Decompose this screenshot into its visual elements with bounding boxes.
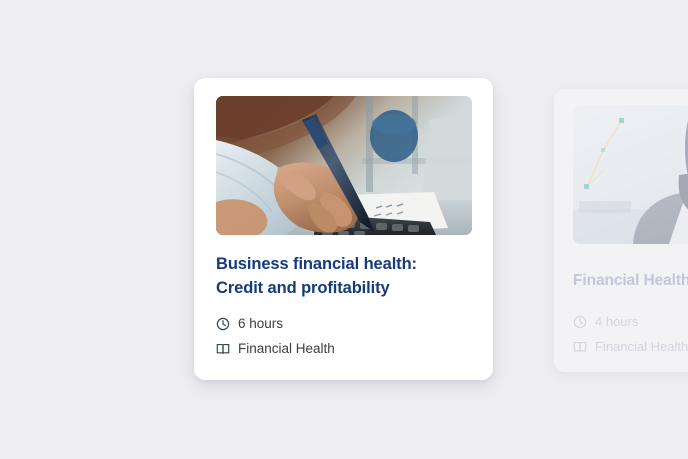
- clock-icon: [573, 315, 587, 329]
- course-card-carousel[interactable]: Business financial health: Credit and pr…: [0, 0, 688, 459]
- course-meta-list-next: 4 hours Financial Health: [573, 314, 688, 364]
- course-meta-category-next: Financial Health: [573, 339, 688, 354]
- course-meta-duration: 6 hours: [216, 316, 335, 331]
- book-icon: [573, 340, 587, 354]
- course-card-next[interactable]: Financial Health f 4 hours: [554, 89, 688, 372]
- course-duration-label-next: 4 hours: [595, 314, 638, 329]
- course-category-label: Financial Health: [238, 341, 335, 356]
- course-category-label-next: Financial Health: [595, 339, 688, 354]
- course-thumbnail-next: [573, 105, 688, 244]
- course-meta-list: 6 hours Financial Health: [216, 316, 335, 366]
- course-title-next[interactable]: Financial Health f: [573, 269, 688, 292]
- clock-icon: [216, 317, 230, 331]
- course-thumbnail: [216, 96, 472, 235]
- course-card[interactable]: Business financial health: Credit and pr…: [194, 78, 493, 380]
- course-meta-duration-next: 4 hours: [573, 314, 688, 329]
- book-icon: [216, 342, 230, 356]
- course-duration-label: 6 hours: [238, 316, 283, 331]
- course-title[interactable]: Business financial health: Credit and pr…: [216, 252, 468, 300]
- course-meta-category: Financial Health: [216, 341, 335, 356]
